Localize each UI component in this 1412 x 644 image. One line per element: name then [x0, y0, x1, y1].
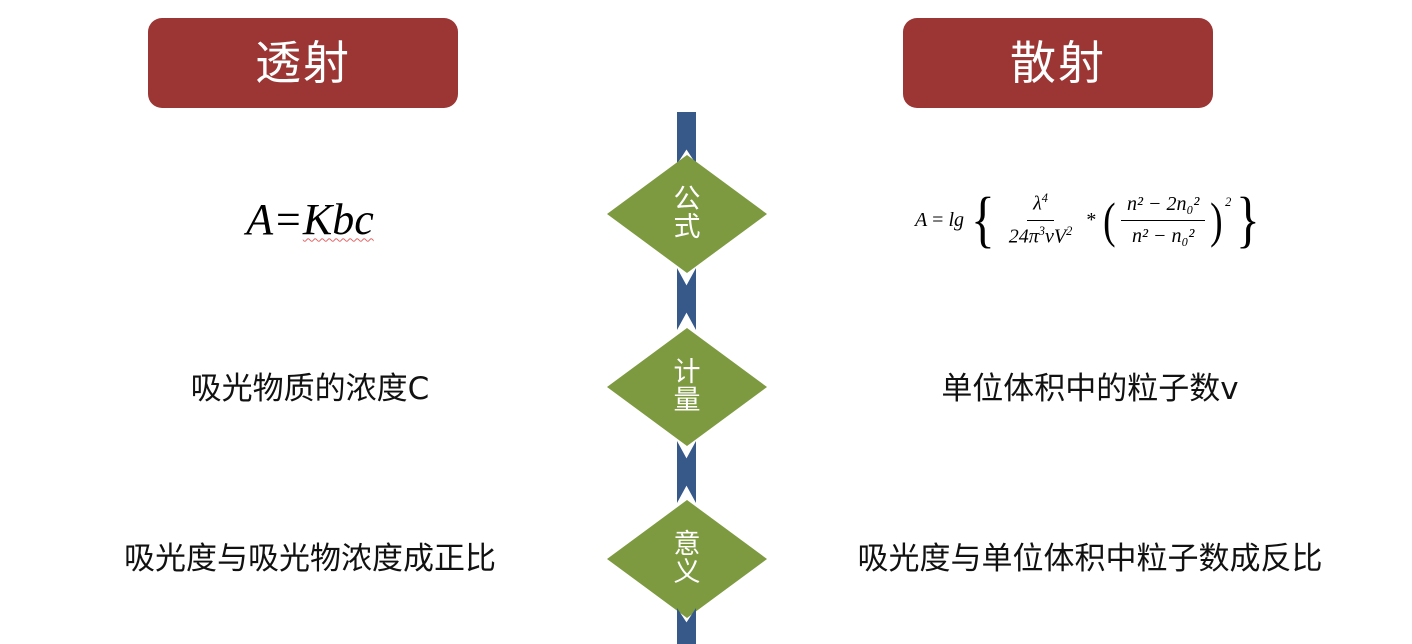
capital-v-exponent: 2: [1066, 224, 1072, 238]
formula-misspelled-term: Kbc: [303, 195, 374, 244]
formula-scattering: A = lg { λ4 24π3vV2 * ( n² − 2n₀² n² − n…: [915, 190, 1265, 250]
cell-left-formula: A=Kbc: [30, 150, 590, 290]
coefficient-24: 24: [1009, 225, 1029, 247]
fraction-denominator: 24π3vV2: [1003, 221, 1079, 251]
lambda-symbol: λ: [1033, 193, 1042, 215]
diamond-node-measure-label: 计量: [672, 359, 702, 416]
formula-log: lg: [948, 207, 964, 234]
formula-fraction-lambda: λ4 24π3vV2: [1003, 190, 1079, 250]
formula-lhs: A: [915, 207, 927, 234]
cell-left-meaning-text: 吸光度与吸光物浓度成正比: [124, 539, 496, 581]
formula-lead: A=: [246, 195, 303, 244]
fraction-denominator: n² − n₀²: [1126, 221, 1200, 250]
formula-paren-open: (: [1103, 200, 1115, 240]
formula-brace-close: }: [1236, 196, 1260, 244]
header-pill-right: 散射: [903, 18, 1213, 108]
fraction-numerator: λ4: [1027, 190, 1054, 221]
formula-equals: =: [932, 207, 943, 234]
formula-fraction-refractive: n² − 2n₀² n² − n₀²: [1121, 191, 1205, 250]
arrow-connector-middle-2: [677, 441, 696, 503]
capital-v-symbol: V: [1054, 225, 1066, 247]
arrow-bar: [677, 441, 696, 503]
fraction-numerator: n² − 2n₀²: [1121, 191, 1205, 221]
header-pill-left-label: 透射: [255, 40, 351, 86]
center-connector-column: 公式 计量 意义: [607, 0, 767, 644]
v-symbol: v: [1045, 225, 1054, 247]
cell-left-measure: 吸光物质的浓度C: [30, 340, 590, 440]
formula-multiply: *: [1086, 207, 1096, 234]
header-pill-right-label: 散射: [1010, 40, 1106, 86]
formula-beer-lambert: A=Kbc: [246, 190, 373, 249]
diamond-node-meaning-label: 意义: [672, 531, 702, 588]
header-pill-left: 透射: [148, 18, 458, 108]
diamond-node-formula: 公式: [607, 155, 767, 273]
diamond-node-meaning: 意义: [607, 500, 767, 618]
cell-left-measure-text: 吸光物质的浓度C: [191, 369, 430, 411]
formula-outer-exponent: 2: [1225, 194, 1231, 211]
arrow-bar: [677, 608, 696, 644]
formula-paren-close: ): [1211, 200, 1223, 240]
cell-right-formula: A = lg { λ4 24π3vV2 * ( n² − 2n₀² n² − n…: [790, 150, 1390, 290]
diamond-node-measure: 计量: [607, 328, 767, 446]
comparison-diagram-slide: 透射 散射 公式 计量 意义 A=Kbc A: [0, 0, 1412, 644]
arrow-bar: [677, 268, 696, 330]
pi-symbol: π: [1029, 225, 1039, 247]
lambda-exponent: 4: [1042, 191, 1048, 205]
cell-right-measure: 单位体积中的粒子数v: [790, 340, 1390, 440]
arrow-connector-middle-1: [677, 268, 696, 330]
cell-right-meaning: 吸光度与单位体积中粒子数成反比: [790, 495, 1390, 625]
formula-brace-open: {: [971, 196, 995, 244]
arrow-connector-bottom: [677, 608, 696, 644]
cell-left-meaning: 吸光度与吸光物浓度成正比: [30, 495, 590, 625]
cell-right-meaning-text: 吸光度与单位体积中粒子数成反比: [858, 539, 1323, 581]
diamond-node-formula-label: 公式: [672, 186, 702, 243]
cell-right-measure-text: 单位体积中的粒子数v: [941, 369, 1238, 411]
